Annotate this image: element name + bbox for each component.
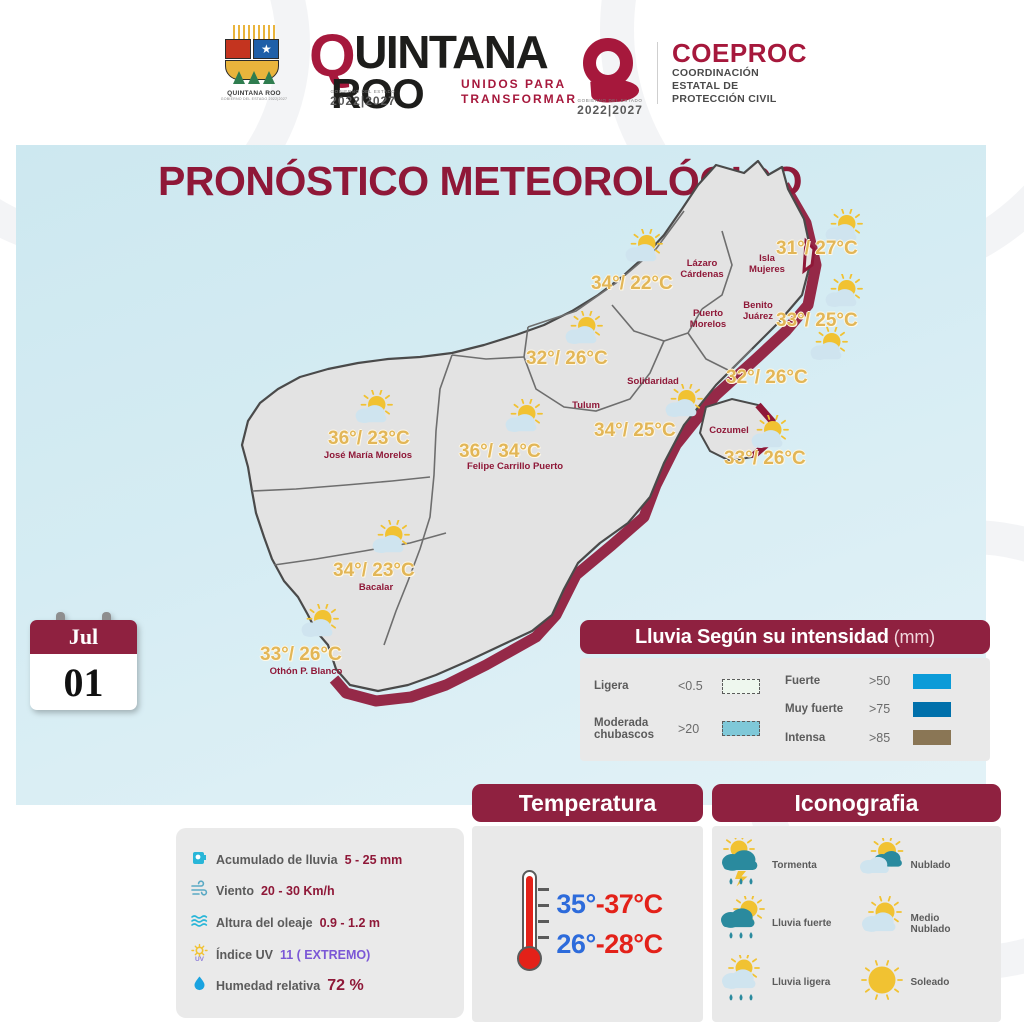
waves-icon	[190, 911, 209, 935]
rain-legend-value: >85	[869, 731, 913, 745]
svg-text:UV: UV	[195, 956, 205, 962]
calendar-day: 01	[64, 659, 104, 706]
iconography-item: Nublado	[857, 838, 996, 893]
municipality-name: Felipe Carrillo Puerto	[467, 461, 563, 472]
rain-legend-swatch	[722, 679, 760, 694]
min-temp-low: 26°	[556, 929, 595, 959]
info-value: 0.9 - 1.2 m	[320, 916, 380, 930]
rain-legend-item: Intensa>85	[785, 730, 976, 745]
rain-legend-label: Ligera	[594, 680, 678, 692]
min-temp-high: -28°C	[596, 929, 663, 959]
rain-gauge-icon	[190, 848, 209, 872]
municipality-temperature: 33°/ 26°C	[260, 644, 342, 666]
iconography-column-left: TormentaLluvia fuerteLluvia ligera	[718, 836, 857, 1012]
date-calendar: Jul 01	[30, 612, 137, 712]
iconography-column-right: NubladoMedioNubladoSoleado	[857, 836, 996, 1012]
max-temperature-range: 35°-37°C	[556, 889, 662, 920]
rain-intensity-panel: Lluvia Según su intensidad (mm) Ligera<0…	[580, 620, 990, 761]
info-value: 5 - 25 mm	[345, 853, 403, 867]
weather-icon-lluvia-fuerte	[718, 896, 768, 951]
wind-icon	[190, 879, 209, 903]
rain-legend-value: <0.5	[678, 679, 722, 693]
coat-of-arms-caption: QUINTANA ROO	[227, 90, 281, 97]
quintana-roo-wordmark: QUINTANA ROO UNIDOS PARA TRANSFORMAR GOB…	[309, 27, 559, 119]
municipality-name: LázaroCárdenas	[680, 258, 723, 280]
droplet-icon	[190, 974, 209, 998]
municipality-temperature: 34°/ 25°C	[594, 420, 676, 442]
municipality-temperature: 36°/ 34°C	[459, 441, 541, 463]
municipality-name: BenitoJuárez	[743, 300, 773, 322]
municipality-name: Tulum	[572, 400, 600, 411]
rain-legend-label: Intensa	[785, 732, 869, 744]
coeproc-gob-text: GOBIERNO DEL ESTADO	[577, 98, 643, 103]
iconography-label: Tormenta	[772, 860, 817, 871]
rain-column-left: Ligera<0.5Moderadachubascos>20	[594, 667, 785, 752]
iconography-item: Lluvia fuerte	[718, 896, 857, 951]
info-value: 11 ( EXTREMO)	[280, 948, 370, 962]
weather-icon-nublado	[857, 838, 907, 893]
header-divider	[657, 42, 658, 104]
iconography-label: Nublado	[911, 860, 951, 871]
rain-legend-label: Fuerte	[785, 675, 869, 687]
max-temp-high: -37°C	[596, 889, 663, 919]
municipality-temperature: 33°/ 26°C	[724, 448, 806, 470]
rain-legend-value: >20	[678, 722, 722, 736]
coat-of-arms-art: ★	[223, 25, 285, 87]
municipality-name: Cozumel	[709, 425, 749, 436]
max-temp-low: 35°	[556, 889, 595, 919]
info-label: Índice UV	[216, 948, 273, 962]
iconography-item: MedioNublado	[857, 896, 996, 951]
thermometer-icon	[512, 870, 546, 978]
municipality-temperature: 34°/ 22°C	[591, 273, 673, 295]
municipality-temperature: 36°/ 23°C	[328, 428, 410, 450]
uv-icon: UV	[190, 943, 209, 967]
coeproc-logo: GOBIERNO DEL ESTADO 2022|2027 COEPROC CO…	[577, 36, 807, 110]
municipality-name: PuertoMorelos	[690, 308, 726, 330]
calendar-month-bar: Jul	[30, 620, 137, 654]
logo-slogan-line1: UNIDOS PARA	[461, 77, 577, 92]
info-label: Altura del oleaje	[216, 916, 313, 930]
info-value: 72 %	[327, 977, 363, 995]
municipality-name: Othón P. Blanco	[270, 666, 343, 677]
iconography-panel-body: TormentaLluvia fuerteLluvia ligera Nubla…	[712, 826, 1001, 1022]
rain-title-text: Lluvia Según su intensidad	[635, 626, 889, 649]
weather-icon-soleado	[857, 955, 907, 1010]
coeproc-title: COEPROC	[672, 40, 807, 67]
rain-legend-swatch	[913, 702, 951, 717]
rain-legend-item: Moderadachubascos>20	[594, 717, 785, 741]
municipality-temperature: 32°/ 26°C	[726, 367, 808, 389]
rain-legend-swatch	[913, 674, 951, 689]
rain-legend-item: Ligera<0.5	[594, 679, 785, 694]
coeproc-years: 2022|2027	[577, 103, 643, 117]
calendar-day-area: 01	[30, 654, 137, 710]
weather-icon-tormenta	[718, 838, 768, 893]
brand-header: ★ QUINTANA ROO GOBIERNO DEL ESTADO 2022|…	[0, 0, 1024, 145]
info-row: Viento20 - 30 Km/h	[190, 879, 450, 903]
logo-slogan-line2: TRANSFORMAR	[461, 92, 577, 107]
min-temperature-range: 26°-28°C	[556, 929, 662, 960]
temperature-panel-body: 35°-37°C 26°-28°C	[472, 826, 703, 1022]
rain-legend-swatch	[913, 730, 951, 745]
temperature-panel-title: Temperatura	[472, 784, 703, 822]
rain-legend-swatch	[722, 721, 760, 736]
coeproc-q-mark: GOBIERNO DEL ESTADO 2022|2027	[577, 36, 643, 110]
weather-icon-medio-nublado	[857, 896, 907, 951]
coeproc-sub-line3: PROTECCIÓN CIVIL	[672, 93, 807, 106]
quintana-roo-coat-of-arms: ★ QUINTANA ROO GOBIERNO DEL ESTADO 2022|…	[217, 25, 291, 121]
rain-legend-item: Fuerte>50	[785, 674, 976, 689]
iconography-label: Soleado	[911, 977, 950, 988]
rain-legend-label: Moderadachubascos	[594, 717, 678, 741]
rain-legend-item: Muy fuerte>75	[785, 702, 976, 717]
municipality-name: José María Morelos	[324, 450, 412, 461]
municipality-temperature: 31°/ 27°C	[776, 238, 858, 260]
info-row: UVÍndice UV11 ( EXTREMO)	[190, 943, 450, 967]
iconography-label: Lluvia fuerte	[772, 918, 831, 929]
info-value: 20 - 30 Km/h	[261, 884, 335, 898]
info-row: Altura del oleaje0.9 - 1.2 m	[190, 911, 450, 935]
iconography-label: MedioNublado	[911, 913, 951, 935]
coeproc-sub-line1: COORDINACIÓN	[672, 67, 807, 80]
iconography-item: Lluvia ligera	[718, 955, 857, 1010]
iconography-item: Tormenta	[718, 838, 857, 893]
info-row: Acumulado de lluvia5 - 25 mm	[190, 848, 450, 872]
info-label: Humedad relativa	[216, 979, 320, 993]
rain-unit: (mm)	[894, 627, 935, 648]
coeproc-sub-line2: ESTATAL DE	[672, 80, 807, 93]
weather-icon-lluvia-ligera	[718, 955, 768, 1010]
iconography-item: Soleado	[857, 955, 996, 1010]
info-label: Acumulado de lluvia	[216, 853, 338, 867]
municipality-temperature: 32°/ 26°C	[526, 348, 608, 370]
temperature-panel: Temperatura 35°-37°C 26°-28°C	[472, 784, 703, 1022]
municipality-name: Bacalar	[359, 582, 393, 593]
municipality-name: IslaMujeres	[749, 253, 785, 275]
rain-legend-value: >75	[869, 702, 913, 716]
rain-legend-value: >50	[869, 674, 913, 688]
rain-column-right: Fuerte>50Muy fuerte>75Intensa>85	[785, 667, 976, 752]
conditions-info-panel: Acumulado de lluvia5 - 25 mmViento20 - 3…	[176, 828, 464, 1018]
rain-panel-title: Lluvia Según su intensidad (mm)	[580, 620, 990, 654]
info-label: Viento	[216, 884, 254, 898]
rain-panel-body: Ligera<0.5Moderadachubascos>20 Fuerte>50…	[580, 658, 990, 761]
iconography-label: Lluvia ligera	[772, 977, 830, 988]
calendar-month: Jul	[69, 624, 98, 650]
weather-icon-medio-nublado	[806, 327, 852, 378]
iconography-panel-title: Iconografia	[712, 784, 1001, 822]
rain-legend-label: Muy fuerte	[785, 703, 869, 715]
logo-years: 2022|2027	[309, 94, 417, 108]
info-row: Humedad relativa72 %	[190, 974, 450, 998]
star-icon: ★	[261, 43, 272, 55]
coat-of-arms-subcaption: GOBIERNO DEL ESTADO 2022|2027	[221, 97, 287, 101]
municipality-temperature: 34°/ 23°C	[333, 560, 415, 582]
iconography-panel: Iconografia TormentaLluvia fuerteLluvia …	[712, 784, 1001, 1022]
